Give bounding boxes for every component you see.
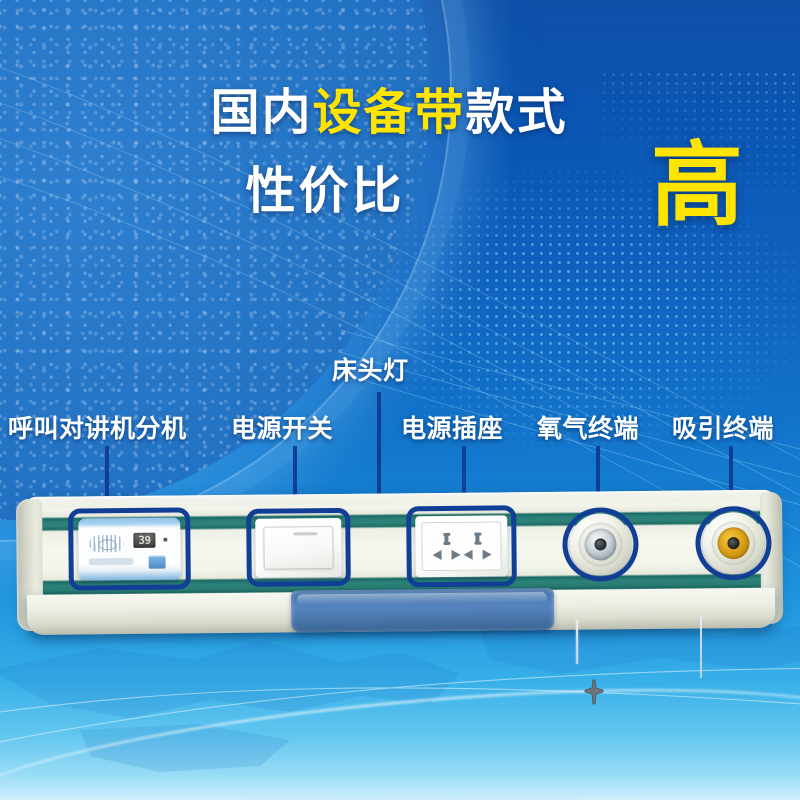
bed-head-unit: 39 — [24, 490, 777, 637]
pull-cord-handle-icon[interactable] — [580, 678, 608, 706]
suction-pull-cord — [700, 616, 702, 678]
socket-outlet-left[interactable] — [431, 533, 461, 560]
suction-terminal-outlet[interactable] — [702, 512, 765, 575]
intercom-display: 39 — [133, 533, 155, 548]
oxygen-terminal-outlet[interactable] — [569, 513, 632, 576]
socket-slot-vertical — [444, 533, 448, 545]
rocker-notch — [293, 532, 317, 535]
socket-slot-angled-right — [483, 550, 492, 560]
power-switch-plate[interactable] — [255, 518, 342, 578]
intercom-call-button[interactable] — [149, 556, 166, 569]
oxygen-pull-cord — [576, 620, 578, 664]
oxygen-terminal-face — [584, 528, 616, 560]
oxygen-terminal-port — [594, 538, 606, 550]
suction-terminal-port — [727, 537, 739, 549]
call-intercom-unit[interactable]: 39 — [78, 518, 181, 581]
socket-face — [421, 521, 501, 571]
socket-slot-vertical — [475, 533, 479, 545]
speaker-grille-icon — [89, 535, 123, 552]
banner-canvas: 国内设备带款式 性价比 高 床头灯 呼叫对讲机分机 电源开关 电源插座 氧气终端… — [0, 0, 800, 800]
socket-slot-angled-right — [452, 550, 461, 560]
power-socket-plate[interactable] — [415, 515, 508, 577]
socket-slot-angled-left — [464, 550, 473, 560]
rocker-switch[interactable] — [263, 526, 333, 570]
socket-outlet-right[interactable] — [462, 533, 492, 560]
product-photo-area: 39 — [0, 0, 800, 800]
intercom-label-strip — [89, 558, 134, 565]
intercom-indicator-led — [163, 538, 167, 542]
suction-terminal-face — [717, 527, 749, 559]
socket-slot-angled-left — [433, 550, 442, 560]
